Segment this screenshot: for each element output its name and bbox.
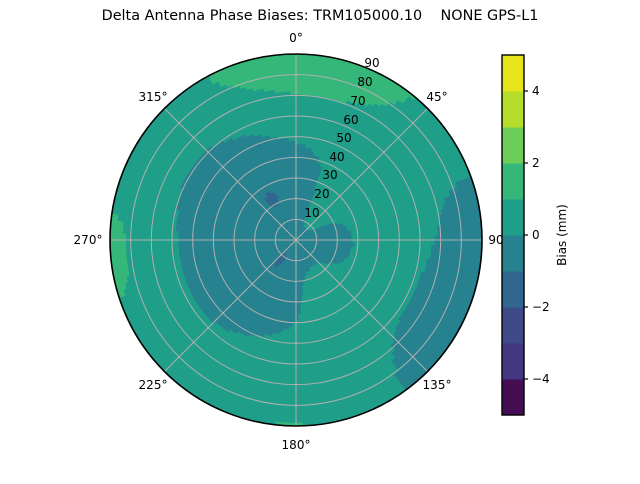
colorbar-bands	[502, 55, 524, 416]
radial-tick-label-5: 60	[343, 113, 358, 127]
colorbar-band-7	[502, 127, 524, 164]
colorbar-band-6	[502, 163, 524, 200]
radial-tick-label-1: 20	[314, 187, 329, 201]
colorbar-tick-label-0: −4	[532, 372, 550, 386]
colorbar-axis-label: Bias (mm)	[555, 204, 569, 266]
angular-tick-label-1: 45°	[426, 90, 447, 104]
colorbar-band-4	[502, 235, 524, 272]
radial-tick-label-4: 50	[336, 131, 351, 145]
radial-tick-label-3: 40	[329, 150, 344, 164]
radial-tick-label-8: 90	[364, 56, 379, 70]
colorbar-band-0	[502, 379, 524, 416]
colorbar-tick-label-1: −2	[532, 300, 550, 314]
radial-tick-label-7: 80	[357, 75, 372, 89]
angular-tick-label-5: 225°	[139, 378, 168, 392]
angular-tick-label-7: 315°	[139, 90, 168, 104]
colorbar-tick-label-3: 2	[532, 156, 540, 170]
colorbar-band-2	[502, 307, 524, 344]
polar-grid-group	[110, 54, 482, 426]
colorbar-band-8	[502, 91, 524, 128]
radial-tick-label-2: 30	[322, 168, 337, 182]
angular-tick-label-6: 270°	[74, 233, 103, 247]
colorbar-band-9	[502, 55, 524, 92]
angular-tick-label-4: 180°	[282, 438, 311, 452]
angular-tick-label-3: 135°	[423, 378, 452, 392]
figure-canvas: Delta Antenna Phase Biases: TRM105000.10…	[0, 0, 640, 480]
angular-tick-label-0: 0°	[289, 31, 303, 45]
colorbar-tick-label-4: 4	[532, 84, 540, 98]
radial-tick-label-0: 10	[304, 206, 319, 220]
colorbar-band-3	[502, 271, 524, 308]
colorbar-band-1	[502, 343, 524, 380]
radial-tick-label-6: 70	[350, 94, 365, 108]
colorbar-tick-label-2: 0	[532, 228, 540, 242]
colorbar-band-5	[502, 199, 524, 236]
